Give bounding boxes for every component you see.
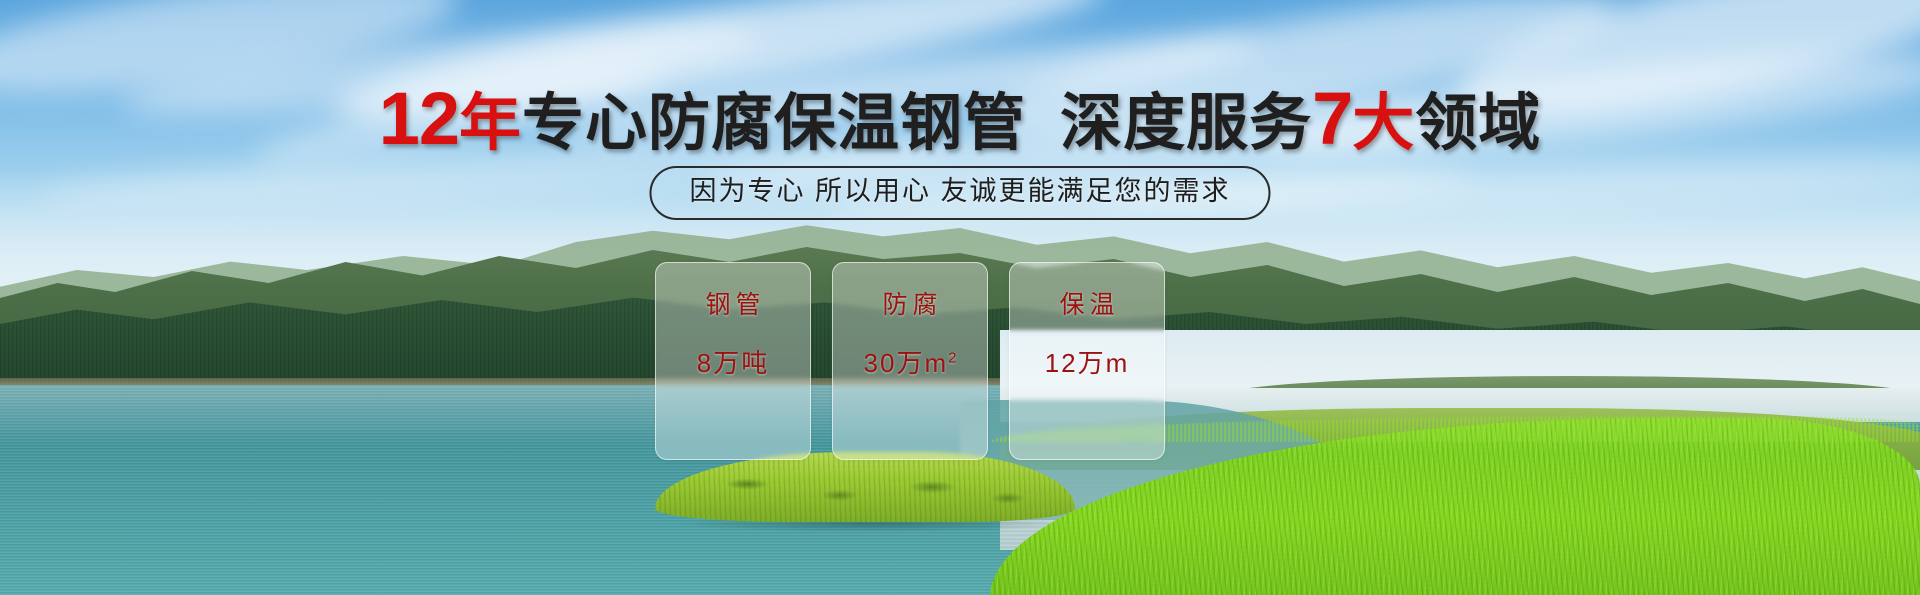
headline: 12年专心防腐保温钢管深度服务7大领域	[0, 82, 1920, 156]
stat-card-anticorrosion[interactable]: 防腐 30万m2	[832, 262, 988, 460]
headline-years-unit: 年	[459, 89, 522, 158]
subtitle-pill: 因为专心 所以用心 友诚更能满足您的需求	[649, 166, 1270, 220]
stat-card-value-text: 8万吨	[697, 348, 769, 378]
stat-card-value-text: 12万m	[1045, 348, 1130, 378]
stat-card-title: 防腐	[877, 293, 942, 318]
headline-fields-number: 7	[1312, 77, 1352, 160]
headline-phrase-3: 领域	[1415, 89, 1541, 158]
stat-card-title: 保温	[1054, 293, 1119, 318]
headline-phrase-1: 专心防腐保温钢管	[522, 89, 1026, 158]
headline-fields-unit: 大	[1352, 89, 1415, 158]
stat-card-steel-pipe[interactable]: 钢管 8万吨	[655, 262, 811, 460]
subtitle-text: 因为专心 所以用心 友诚更能满足您的需求	[689, 176, 1230, 206]
stat-card-insulation[interactable]: 保温 12万m	[1009, 262, 1165, 460]
headline-years-number: 12	[379, 77, 459, 160]
promo-banner: 12年专心防腐保温钢管深度服务7大领域 因为专心 所以用心 友诚更能满足您的需求…	[0, 0, 1920, 595]
headline-phrase-2: 深度服务	[1060, 89, 1312, 158]
stat-card-value-text: 30万m	[864, 348, 949, 378]
stat-card-list: 钢管 8万吨 防腐 30万m2 保温 12万m	[655, 262, 1165, 460]
stat-card-value: 8万吨	[697, 350, 769, 376]
stat-card-value: 30万m2	[864, 350, 957, 376]
stat-card-value: 12万m	[1045, 350, 1130, 376]
stat-card-title: 钢管	[700, 293, 765, 318]
stat-card-value-superscript: 2	[948, 349, 956, 366]
